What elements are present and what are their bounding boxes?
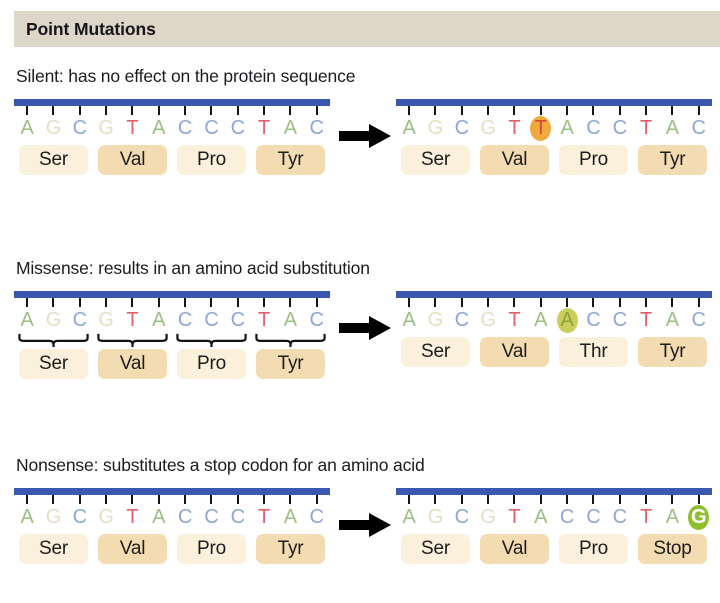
nucleotide: T	[501, 115, 527, 141]
nucleotide-letter: G	[98, 310, 114, 330]
right-arrow-icon	[339, 315, 391, 341]
nucleotide-letter: G	[98, 118, 114, 138]
nucleotide-letter: T	[258, 507, 270, 527]
dna-backbone-bar	[396, 99, 712, 106]
tick-mark	[146, 106, 172, 115]
tick-mark	[554, 106, 580, 115]
nucleotide: T	[119, 307, 145, 333]
nucleotide: T	[633, 504, 659, 530]
dna-panel-right: AGCGTACCCTAGSerValProStop	[396, 488, 712, 580]
nucleotide-letter: T	[640, 310, 652, 330]
nucleotide-letter: C	[204, 507, 218, 527]
nucleotide: T	[501, 504, 527, 530]
dna-backbone-bar	[14, 291, 330, 298]
tick-mark	[633, 298, 659, 307]
nucleotide: G	[40, 307, 66, 333]
nucleotide: G	[475, 307, 501, 333]
nucleotide: T	[633, 115, 659, 141]
amino-acid-box: Ser	[401, 534, 470, 564]
nucleotide-letter: T	[535, 118, 547, 138]
nucleotide-letter: A	[402, 310, 415, 330]
nucleotide: C	[225, 115, 251, 141]
tick-mark	[304, 298, 330, 307]
nucleotide-sequence: AGCGTACCCTAC	[14, 504, 330, 530]
nucleotide: A	[14, 307, 40, 333]
nucleotide: G	[93, 504, 119, 530]
tick-mark	[528, 106, 554, 115]
nucleotide: T	[119, 504, 145, 530]
nucleotide-letter: C	[455, 118, 469, 138]
nucleotide: C	[580, 307, 606, 333]
nucleotide: C	[67, 504, 93, 530]
nucleotide-letter: A	[534, 310, 547, 330]
nucleotide-letter: C	[586, 118, 600, 138]
tick-mark	[659, 106, 685, 115]
tick-mark	[172, 298, 198, 307]
tick-mark	[93, 495, 119, 504]
amino-acid-box: Tyr	[256, 349, 325, 379]
tick-mark	[40, 298, 66, 307]
nucleotide-letter: A	[402, 118, 415, 138]
nucleotide: A	[528, 504, 554, 530]
mutated-nucleotide: A	[554, 307, 580, 333]
nucleotide: A	[277, 307, 303, 333]
tick-mark	[172, 106, 198, 115]
nucleotide: A	[146, 504, 172, 530]
dna-panel-right: AGCGTAACCTACSerValThrTyr	[396, 291, 712, 383]
nucleotide: C	[580, 504, 606, 530]
nucleotide-letter: A	[20, 507, 33, 527]
nucleotide-letter: G	[98, 507, 114, 527]
section-label: Missense: results in an amino acid subst…	[16, 258, 370, 279]
nucleotide-tick-marks	[396, 495, 712, 504]
nucleotide-letter: G	[691, 507, 707, 527]
amino-acid-box: Tyr	[638, 145, 707, 175]
nucleotide-letter: G	[480, 310, 496, 330]
nucleotide-letter: C	[231, 507, 245, 527]
tick-mark	[580, 298, 606, 307]
nucleotide-letter: A	[20, 310, 33, 330]
nucleotide-tick-marks	[14, 106, 330, 115]
tick-mark	[119, 106, 145, 115]
nucleotide-letter: G	[46, 310, 62, 330]
nucleotide-letter: C	[455, 507, 469, 527]
nucleotide: T	[251, 115, 277, 141]
amino-acid-box: Val	[480, 145, 549, 175]
nucleotide-letter: A	[284, 118, 297, 138]
nucleotide: A	[659, 307, 685, 333]
tick-mark	[659, 298, 685, 307]
nucleotide: A	[659, 115, 685, 141]
nucleotide-letter: C	[178, 310, 192, 330]
amino-acid-box: Val	[98, 534, 167, 564]
amino-acid-box: Tyr	[638, 337, 707, 367]
tick-mark	[304, 106, 330, 115]
amino-acid-box: Tyr	[256, 534, 325, 564]
nucleotide-letter: C	[613, 507, 627, 527]
nucleotide-letter: T	[126, 118, 138, 138]
codon-brace	[172, 333, 251, 347]
tick-mark	[475, 106, 501, 115]
tick-mark	[528, 298, 554, 307]
tick-mark	[119, 298, 145, 307]
tick-mark	[119, 495, 145, 504]
tick-mark	[607, 298, 633, 307]
nucleotide-sequence: AGCGTAACCTAC	[396, 307, 712, 333]
nucleotide-letter: T	[258, 310, 270, 330]
nucleotide-sequence: AGCGTTACCTAC	[396, 115, 712, 141]
tick-mark	[396, 106, 422, 115]
dna-backbone-bar	[14, 488, 330, 495]
nucleotide: C	[67, 115, 93, 141]
nucleotide-letter: G	[46, 118, 62, 138]
amino-acid-row: SerValProTyr	[14, 534, 330, 564]
nucleotide-letter: C	[178, 118, 192, 138]
nucleotide: A	[396, 504, 422, 530]
dna-panel-right: AGCGTTACCTACSerValProTyr	[396, 99, 712, 191]
nucleotide: G	[422, 504, 448, 530]
tick-mark	[67, 495, 93, 504]
nucleotide-letter: T	[508, 310, 520, 330]
section-label: Nonsense: substitutes a stop codon for a…	[16, 455, 425, 476]
codon-brace	[93, 333, 172, 347]
tick-mark	[172, 495, 198, 504]
amino-acid-box: Thr	[559, 337, 628, 367]
nucleotide-letter: A	[560, 118, 573, 138]
tick-mark	[422, 106, 448, 115]
tick-mark	[422, 298, 448, 307]
dna-panel-left: AGCGTACCCTACSerValProTyr	[14, 291, 330, 383]
tick-mark	[251, 495, 277, 504]
nucleotide-letter: C	[586, 507, 600, 527]
amino-acid-box: Val	[480, 534, 549, 564]
dna-backbone-bar	[396, 291, 712, 298]
nucleotide-letter: A	[152, 310, 165, 330]
tick-mark	[501, 106, 527, 115]
nucleotide: G	[40, 115, 66, 141]
nucleotide: A	[277, 115, 303, 141]
tick-mark	[633, 495, 659, 504]
nucleotide-letter: A	[666, 118, 679, 138]
dna-backbone-bar	[396, 488, 712, 495]
nucleotide-letter: C	[73, 507, 87, 527]
nucleotide-letter: T	[126, 310, 138, 330]
tick-mark	[633, 106, 659, 115]
nucleotide: C	[198, 307, 224, 333]
section-label: Silent: has no effect on the protein seq…	[16, 66, 355, 87]
tick-mark	[449, 495, 475, 504]
tick-mark	[304, 495, 330, 504]
nucleotide: C	[304, 307, 330, 333]
nucleotide-letter: C	[586, 310, 600, 330]
tick-mark	[198, 106, 224, 115]
nucleotide: T	[119, 115, 145, 141]
nucleotide-letter: T	[258, 118, 270, 138]
nucleotide-letter: C	[310, 310, 324, 330]
dna-panel-left: AGCGTACCCTACSerValProTyr	[14, 99, 330, 191]
tick-mark	[225, 298, 251, 307]
page-title: Point Mutations	[14, 19, 156, 40]
nucleotide: C	[607, 115, 633, 141]
nucleotide-tick-marks	[396, 106, 712, 115]
nucleotide: C	[449, 504, 475, 530]
amino-acid-box: Val	[98, 145, 167, 175]
point-mutations-figure: Point Mutations Silent: has no effect on…	[0, 0, 720, 603]
nucleotide: T	[251, 307, 277, 333]
nucleotide-letter: C	[73, 118, 87, 138]
nucleotide: C	[580, 115, 606, 141]
tick-mark	[198, 495, 224, 504]
nucleotide-letter: G	[428, 310, 444, 330]
nucleotide: A	[528, 307, 554, 333]
nucleotide: T	[251, 504, 277, 530]
mutated-nucleotide: T	[528, 115, 554, 141]
nucleotide: C	[304, 504, 330, 530]
nucleotide-letter: C	[455, 310, 469, 330]
amino-acid-box: Ser	[19, 145, 88, 175]
nucleotide: A	[659, 504, 685, 530]
nucleotide: C	[449, 307, 475, 333]
nucleotide-letter: C	[613, 310, 627, 330]
panels-row: AGCGTACCCTACSerValProTyrAGCGTACCCTAGSerV…	[0, 488, 720, 580]
nucleotide: A	[396, 115, 422, 141]
tick-mark	[422, 495, 448, 504]
nucleotide-letter: A	[534, 507, 547, 527]
tick-mark	[475, 495, 501, 504]
amino-acid-box: Pro	[559, 145, 628, 175]
amino-acid-row: SerValThrTyr	[396, 337, 712, 367]
nucleotide: G	[422, 307, 448, 333]
nucleotide-letter: C	[231, 310, 245, 330]
nucleotide-letter: G	[480, 118, 496, 138]
nucleotide-letter: A	[402, 507, 415, 527]
tick-mark	[40, 106, 66, 115]
nucleotide: T	[501, 307, 527, 333]
amino-acid-box: Stop	[638, 534, 707, 564]
nucleotide: C	[304, 115, 330, 141]
nucleotide: A	[14, 115, 40, 141]
nucleotide: C	[686, 307, 712, 333]
nucleotide: A	[396, 307, 422, 333]
tick-mark	[225, 495, 251, 504]
nucleotide: C	[67, 307, 93, 333]
tick-mark	[686, 495, 712, 504]
tick-mark	[396, 298, 422, 307]
nucleotide: G	[475, 504, 501, 530]
nucleotide-letter: T	[508, 118, 520, 138]
nucleotide-letter: G	[428, 507, 444, 527]
tick-mark	[277, 298, 303, 307]
nucleotide-letter: C	[178, 507, 192, 527]
amino-acid-box: Ser	[19, 349, 88, 379]
nucleotide-letter: T	[508, 507, 520, 527]
nucleotide: G	[40, 504, 66, 530]
amino-acid-box: Tyr	[256, 145, 325, 175]
amino-acid-box: Ser	[401, 145, 470, 175]
tick-mark	[580, 495, 606, 504]
nucleotide: C	[607, 307, 633, 333]
nucleotide-letter: G	[46, 507, 62, 527]
nucleotide-letter: C	[73, 310, 87, 330]
nucleotide-letter: A	[284, 507, 297, 527]
nucleotide: A	[277, 504, 303, 530]
nucleotide-tick-marks	[14, 298, 330, 307]
nucleotide: A	[554, 115, 580, 141]
amino-acid-row: SerValProTyr	[14, 145, 330, 175]
tick-mark	[40, 495, 66, 504]
nucleotide-letter: C	[310, 507, 324, 527]
tick-mark	[528, 495, 554, 504]
nucleotide-letter: A	[666, 507, 679, 527]
nucleotide: A	[14, 504, 40, 530]
nucleotide-sequence: AGCGTACCCTAC	[14, 307, 330, 333]
nucleotide-letter: C	[560, 507, 574, 527]
tick-mark	[554, 495, 580, 504]
nucleotide: A	[146, 307, 172, 333]
nucleotide-letter: C	[692, 118, 706, 138]
tick-mark	[686, 106, 712, 115]
tick-mark	[396, 495, 422, 504]
tick-mark	[659, 495, 685, 504]
right-arrow-icon	[339, 512, 391, 538]
amino-acid-row: SerValProStop	[396, 534, 712, 564]
tick-mark	[607, 495, 633, 504]
tick-mark	[475, 298, 501, 307]
tick-mark	[146, 495, 172, 504]
figure-title-bar: Point Mutations	[14, 11, 720, 47]
nucleotide-letter: T	[126, 507, 138, 527]
nucleotide: C	[172, 307, 198, 333]
tick-mark	[14, 495, 40, 504]
nucleotide: G	[475, 115, 501, 141]
tick-mark	[277, 495, 303, 504]
tick-mark	[198, 298, 224, 307]
tick-mark	[501, 298, 527, 307]
tick-mark	[277, 106, 303, 115]
nucleotide: G	[93, 115, 119, 141]
nucleotide-letter: G	[480, 507, 496, 527]
tick-mark	[93, 106, 119, 115]
mutated-nucleotide: G	[686, 504, 712, 530]
nucleotide-letter: G	[428, 118, 444, 138]
nucleotide-sequence: AGCGTACCCTAG	[396, 504, 712, 530]
tick-mark	[554, 298, 580, 307]
amino-acid-box: Val	[480, 337, 549, 367]
tick-mark	[67, 298, 93, 307]
nucleotide-tick-marks	[14, 495, 330, 504]
amino-acid-box: Pro	[177, 145, 246, 175]
nucleotide-letter: A	[152, 118, 165, 138]
tick-mark	[580, 106, 606, 115]
tick-mark	[686, 298, 712, 307]
nucleotide-sequence: AGCGTACCCTAC	[14, 115, 330, 141]
tick-mark	[14, 106, 40, 115]
nucleotide: C	[198, 115, 224, 141]
nucleotide-letter: A	[20, 118, 33, 138]
nucleotide-letter: C	[231, 118, 245, 138]
amino-acid-box: Val	[98, 349, 167, 379]
amino-acid-box: Pro	[177, 349, 246, 379]
nucleotide: C	[172, 504, 198, 530]
nucleotide: C	[686, 115, 712, 141]
panels-row: AGCGTACCCTACSerValProTyrAGCGTTACCTACSerV…	[0, 99, 720, 191]
nucleotide: G	[422, 115, 448, 141]
amino-acid-box: Ser	[401, 337, 470, 367]
amino-acid-box: Ser	[19, 534, 88, 564]
nucleotide-letter: A	[666, 310, 679, 330]
right-arrow-icon	[339, 123, 391, 149]
nucleotide-letter: T	[640, 118, 652, 138]
nucleotide-letter: C	[692, 310, 706, 330]
tick-mark	[67, 106, 93, 115]
dna-panel-left: AGCGTACCCTACSerValProTyr	[14, 488, 330, 580]
nucleotide: G	[93, 307, 119, 333]
nucleotide: C	[198, 504, 224, 530]
amino-acid-box: Pro	[559, 534, 628, 564]
tick-mark	[251, 298, 277, 307]
nucleotide: C	[225, 307, 251, 333]
nucleotide: C	[225, 504, 251, 530]
amino-acid-row: SerValProTyr	[396, 145, 712, 175]
tick-mark	[251, 106, 277, 115]
tick-mark	[14, 298, 40, 307]
panels-row: AGCGTACCCTACSerValProTyrAGCGTAACCTACSerV…	[0, 291, 720, 383]
codon-brace	[14, 333, 93, 347]
nucleotide-letter: C	[204, 118, 218, 138]
nucleotide: C	[607, 504, 633, 530]
tick-mark	[225, 106, 251, 115]
tick-mark	[449, 298, 475, 307]
tick-mark	[93, 298, 119, 307]
amino-acid-box: Pro	[177, 534, 246, 564]
nucleotide-tick-marks	[396, 298, 712, 307]
tick-mark	[449, 106, 475, 115]
nucleotide-letter: A	[152, 507, 165, 527]
codon-brace	[251, 333, 330, 347]
tick-mark	[501, 495, 527, 504]
nucleotide-letter: A	[560, 310, 573, 330]
dna-backbone-bar	[14, 99, 330, 106]
nucleotide: A	[146, 115, 172, 141]
nucleotide-letter: T	[640, 507, 652, 527]
nucleotide-letter: C	[204, 310, 218, 330]
nucleotide-letter: A	[284, 310, 297, 330]
nucleotide: C	[172, 115, 198, 141]
nucleotide-letter: C	[613, 118, 627, 138]
nucleotide: C	[554, 504, 580, 530]
nucleotide: T	[633, 307, 659, 333]
amino-acid-row: SerValProTyr	[14, 349, 330, 379]
tick-mark	[607, 106, 633, 115]
tick-mark	[146, 298, 172, 307]
nucleotide-letter: C	[310, 118, 324, 138]
nucleotide: C	[449, 115, 475, 141]
codon-braces	[14, 333, 330, 347]
